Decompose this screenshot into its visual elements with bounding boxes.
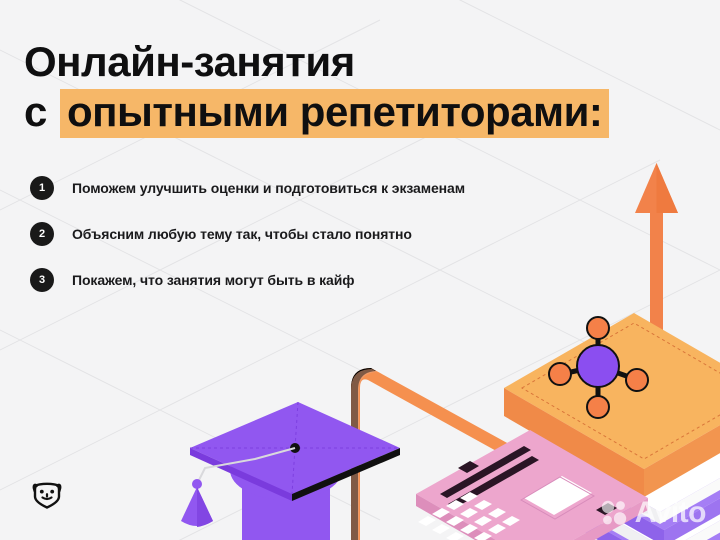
- graduation-cap-board: [190, 402, 400, 501]
- title-line-2: с опытными репетиторами:: [24, 88, 609, 138]
- title-highlight: опытными репетиторами:: [60, 89, 609, 138]
- list-item-label: Объясним любую тему так, чтобы стало пон…: [72, 226, 412, 242]
- list-item: 2 Объясним любую тему так, чтобы стало п…: [30, 222, 465, 246]
- benefits-list: 1 Поможем улучшить оценки и подготовитьс…: [30, 176, 465, 292]
- list-item-badge: 1: [30, 176, 54, 200]
- title-line-1: Онлайн-занятия: [24, 38, 609, 86]
- cap-tassel: [181, 479, 213, 527]
- list-item: 1 Поможем улучшить оценки и подготовитьс…: [30, 176, 465, 200]
- bear-head-logo-icon: [30, 478, 64, 512]
- poster-canvas: Онлайн-занятия с опытными репетиторами: …: [0, 0, 720, 540]
- list-item-label: Поможем улучшить оценки и подготовиться …: [72, 180, 465, 196]
- page-title: Онлайн-занятия с опытными репетиторами:: [24, 38, 609, 138]
- list-item-badge: 2: [30, 222, 54, 246]
- title-lead-word: с: [24, 88, 49, 135]
- list-item-label: Покажем, что занятия могут быть в кайф: [72, 272, 354, 288]
- list-item: 3 Покажем, что занятия могут быть в кайф: [30, 268, 465, 292]
- list-item-badge: 3: [30, 268, 54, 292]
